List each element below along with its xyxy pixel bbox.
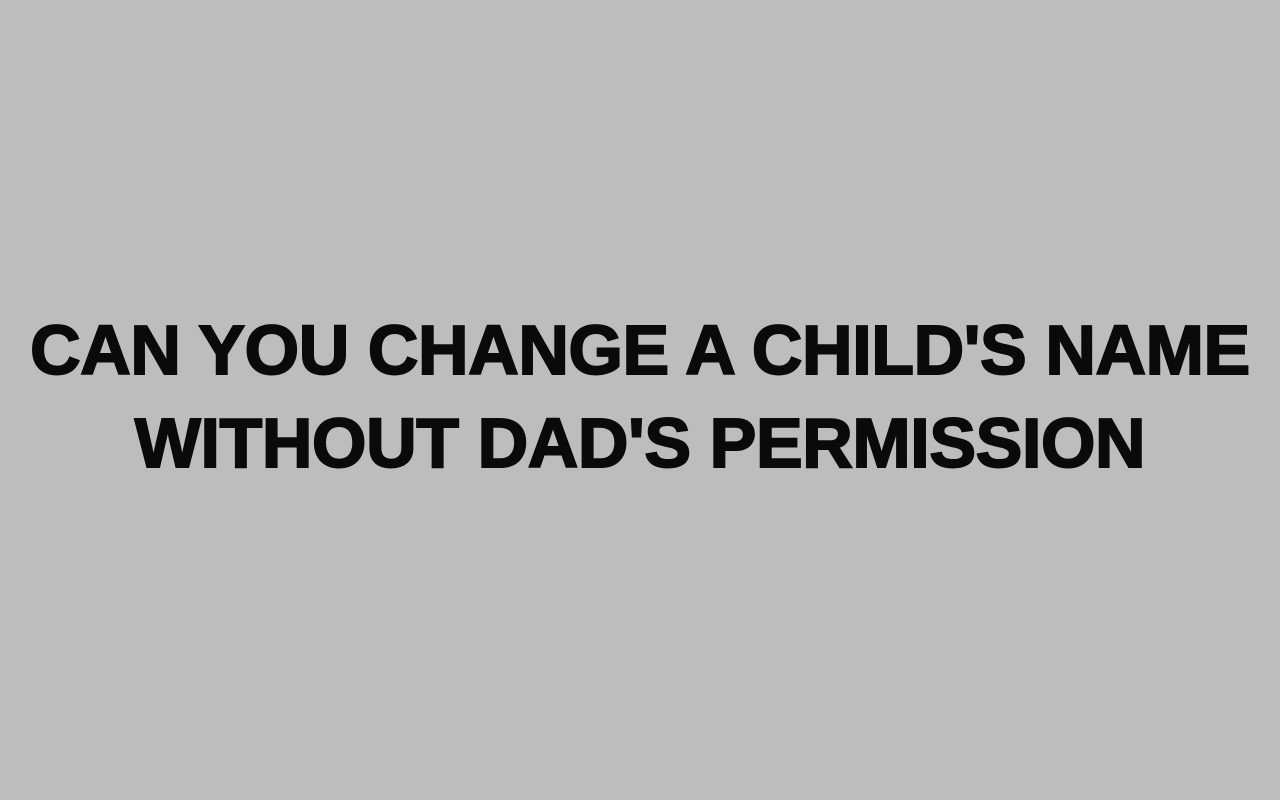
page-title-line-1: CAN YOU CHANGE A CHILD'S NAME: [20, 304, 1260, 397]
page-title: CAN YOU CHANGE A CHILD'S NAME WITHOUT DA…: [20, 304, 1260, 490]
title-card-canvas: CAN YOU CHANGE A CHILD'S NAME WITHOUT DA…: [0, 0, 1280, 800]
page-title-line-2: WITHOUT DAD'S PERMISSION: [20, 397, 1260, 490]
